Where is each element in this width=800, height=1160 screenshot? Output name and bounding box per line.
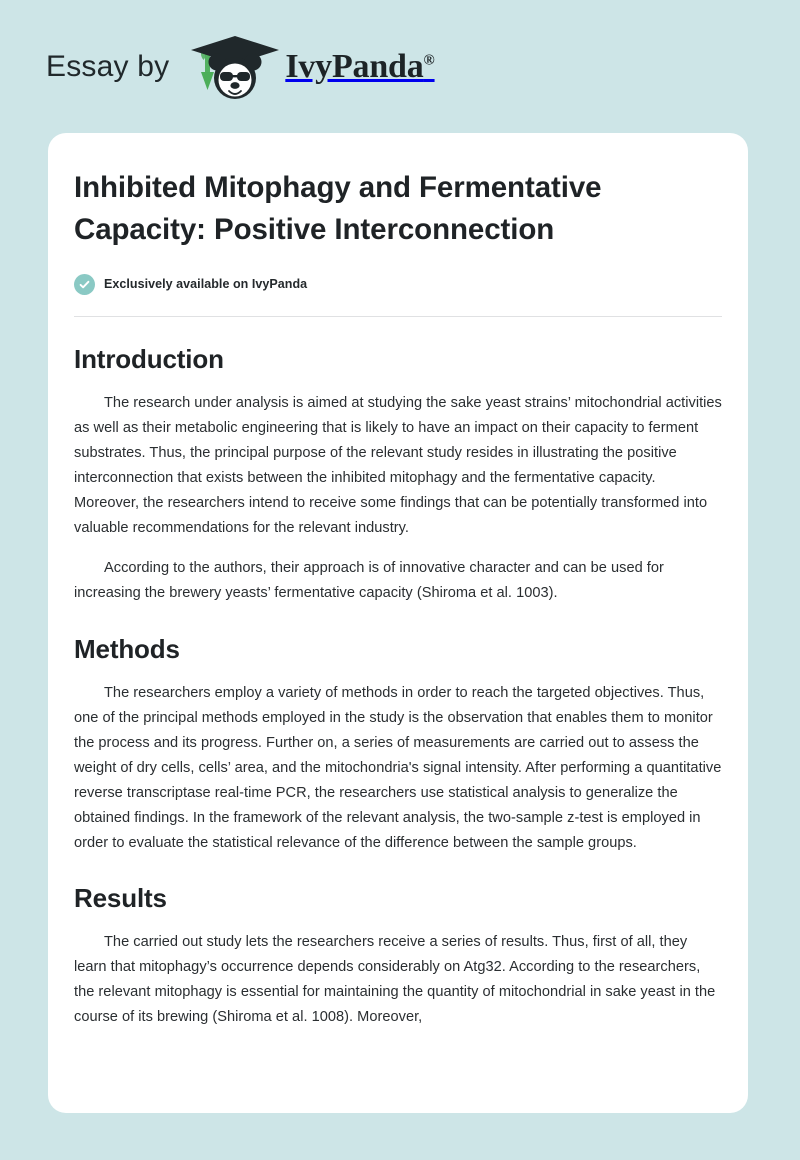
header-divider xyxy=(74,316,722,317)
exclusive-availability-badge: Exclusively available on IvyPanda xyxy=(74,274,722,295)
paragraph: According to the authors, their approach… xyxy=(74,556,722,606)
paragraph: The researchers employ a variety of meth… xyxy=(74,681,722,857)
page-title: Inhibited Mitophagy and Fermentative Cap… xyxy=(74,167,714,251)
wordmark-text: IvyPanda xyxy=(285,48,423,85)
essay-by-label: Essay by xyxy=(46,52,169,82)
document-content: Inhibited Mitophagy and Fermentative Cap… xyxy=(48,133,748,1031)
ivypanda-wordmark: IvyPanda® xyxy=(285,50,434,84)
essay-document-card: Inhibited Mitophagy and Fermentative Cap… xyxy=(48,133,748,1113)
ivypanda-logo-link[interactable]: IvyPanda® xyxy=(187,34,434,100)
paragraph: The research under analysis is aimed at … xyxy=(74,391,722,542)
brand-header: Essay by xyxy=(0,0,800,133)
check-circle-icon xyxy=(74,274,95,295)
ivypanda-panda-logo-icon xyxy=(187,34,283,100)
registered-trademark-symbol: ® xyxy=(424,52,435,68)
section-heading-introduction: Introduction xyxy=(74,344,722,375)
paragraph: The carried out study lets the researche… xyxy=(74,930,722,1030)
section-heading-results: Results xyxy=(74,883,722,914)
status-badge: Exclusively available on IvyPanda xyxy=(104,277,307,291)
section-heading-methods: Methods xyxy=(74,634,722,665)
